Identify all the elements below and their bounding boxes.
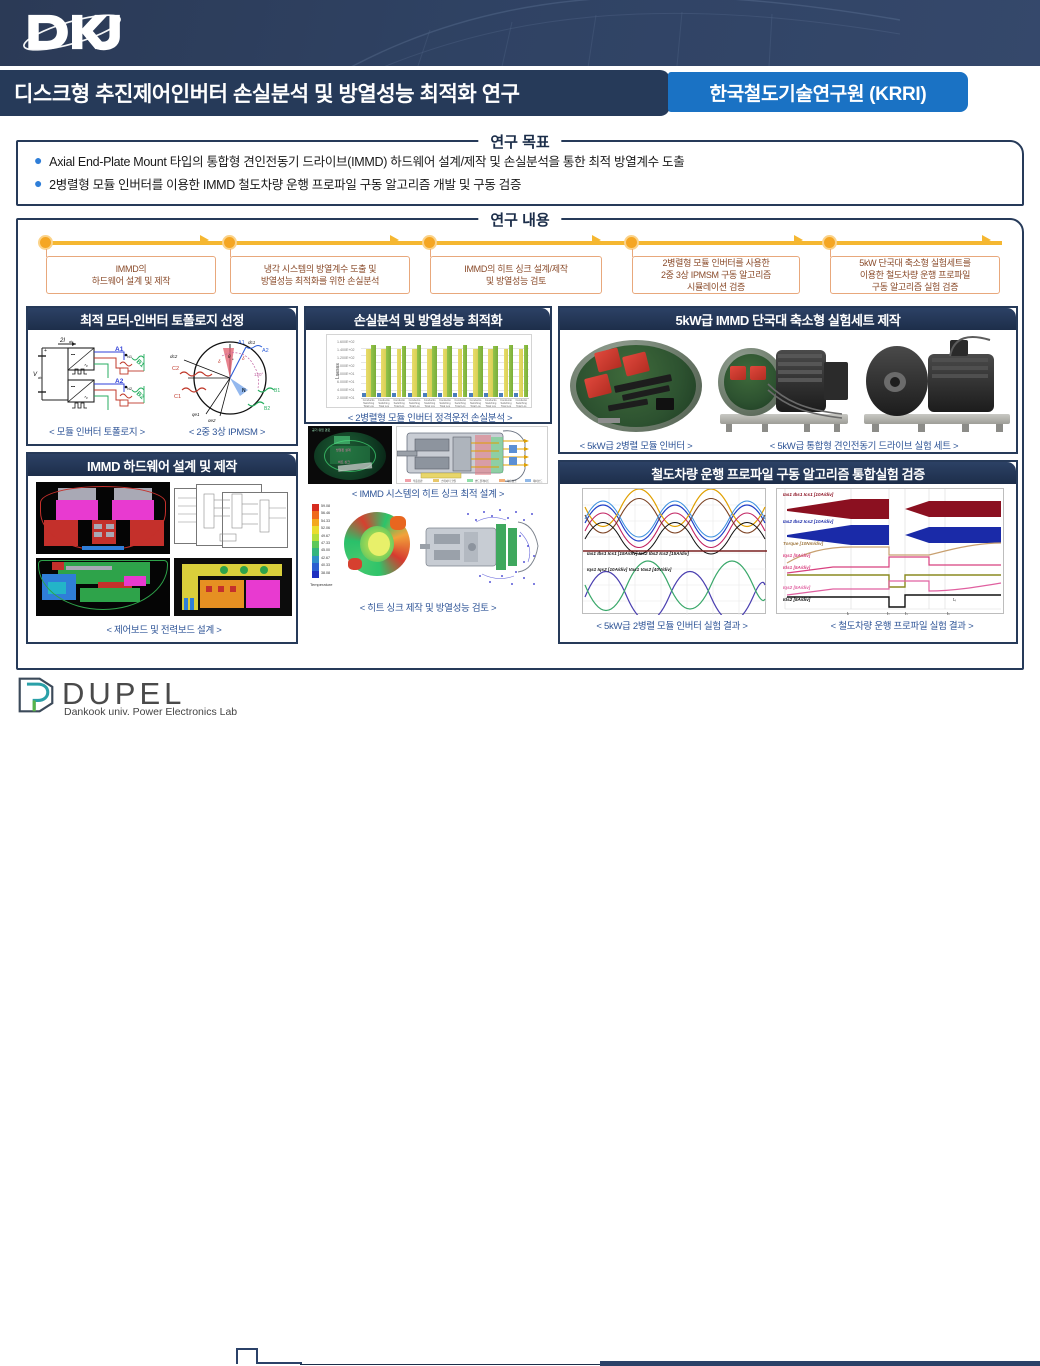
profile-label-iqs1: Iqs1 [5A/div] [783,553,810,558]
svg-text:dc1: dc1 [248,340,256,345]
chart-bar [397,349,402,397]
svg-text:+: + [44,348,47,354]
bullet-icon: ● [34,153,42,167]
chart-bar [514,393,518,397]
chart-bar [453,393,457,397]
caption-inverter-experiment-result: < 5kW급 2병렬 모듈 인버터 실험 결과 > [560,618,784,632]
panel-topology-title: 최적 모터-인버터 토폴로지 선정 [80,310,244,329]
chart-bar [524,345,529,397]
chart-bar [408,393,412,397]
timeline-arrow-icon [390,235,399,245]
timeline-step-label: 5kW 단국대 축소형 실험세트를 이용한 철도차량 운행 프로파일 구동 알고… [859,257,970,293]
figure-module-inverter-topology: V dc + − 2I dc ⎓ ∿ [32,334,160,422]
chart-x-tick: ConductioSwitchingTotal Los [392,398,407,409]
chart-x-tick: ConductioSwitchingTotal Los [407,398,422,409]
profile-label-ids1: Ids1 [5A/div] [783,565,810,570]
chart-y-tick: 1.600E+02 [337,340,355,344]
thermal-colorbar-tick: 49.67 [321,534,330,538]
panel-topology-body: V dc + − 2I dc ⎓ ∿ [28,330,296,444]
chart-bar [402,346,407,397]
footer-rule-thick [600,1361,1040,1366]
research-timeline: IMMD의 하드웨어 설계 및 제작 냉각 시스템의 방열계수 도출 및 방열성… [32,232,1012,298]
svg-text:t₃: t₃ [905,611,908,615]
timeline-step-label: 냉각 시스템의 방열계수 도출 및 방열성능 최적화를 위한 손실분석 [261,263,379,287]
svg-text:A2: A2 [115,378,124,385]
chart-y-tick: 1.400E+02 [337,348,355,352]
svg-text:B2: B2 [264,406,270,412]
figure-control-board-layout [36,558,170,616]
chart-bar [473,349,478,397]
svg-text:qe2: qe2 [208,418,216,422]
svg-text:t₄: t₄ [953,597,956,602]
svg-text:히트싱크: 히트싱크 [507,479,517,483]
chart-bar [519,349,524,397]
page-title: 디스크형 추진제어인버터 손실분석 및 방열성능 최적화 연구 [0,70,670,116]
thermal-colorbar [312,504,319,578]
svg-text:⎓: ⎓ [71,352,75,358]
chart-bar [438,393,442,397]
svg-text:t₅: t₅ [947,611,950,615]
panel-heat-sink: 공기 유입 경로 방열핀 설계 히트 싱크 [304,426,552,644]
panel-hardware-design-title: IMMD 하드웨어 설계 및 제작 [87,456,237,475]
timeline-step-1: IMMD의 하드웨어 설계 및 제작 [46,256,216,294]
svg-text:∿: ∿ [84,363,88,369]
footer-step-decoration [256,1362,302,1364]
chart-x-tick: ConductioSwitchingTotal Los [422,398,437,409]
timeline-node [624,235,639,250]
chart-x-tick-labels: ConductioSwitchingTotal LosConductioSwit… [361,398,529,409]
chart-bar [478,346,483,397]
chart-bar [417,345,422,397]
timeline-step-label: IMMD의 히트 싱크 설계/제작 및 방열성능 검토 [464,263,567,287]
svg-text:⎓: ⎓ [71,384,75,390]
timeline-arrow-icon [200,235,209,245]
figure-board-floorplan [174,558,292,616]
chart-bar [488,349,493,397]
panel-hardware-design-body: < 제어보드 및 전력보드 설계 > [28,476,296,642]
profile-label-torque: Torque [10Nm/div] [783,541,823,546]
photo-traction-motor-dyno [858,332,1016,436]
panel-loss-analysis-header: 손실분석 및 방열성능 최적화 [306,308,550,330]
svg-text:A1: A1 [115,346,124,353]
footer: DUPEL Dankook univ. Power Electronics La… [0,672,1040,720]
timeline-step-2: 냉각 시스템의 방열계수 도출 및 방열성능 최적화를 위한 손실분석 [230,256,410,294]
svg-text:qe1: qe1 [192,412,200,417]
caption-control-power-board-design: < 제어보드 및 전력보드 설계 > [32,622,296,636]
timeline-step-label: 2병렬형 모듈 인버터를 사용한 2중 3상 IPMSM 구동 알고리즘 시뮬레… [661,257,771,293]
dupel-subtitle: Dankook univ. Power Electronics Lab [64,706,237,718]
chart-bar [412,349,417,397]
figure-thermal-cfd-analysis: 59.0856.4654.3352.0649.6747.3345.0042.67… [308,500,548,598]
footer-rule-thin [300,1364,600,1365]
svg-text:t₂: t₂ [887,611,890,615]
svg-text:스테이터 코일: 스테이터 코일 [441,479,457,483]
thermal-colorbar-tick: 54.33 [321,519,330,523]
timeline-step-3: IMMD의 히트 싱크 설계/제작 및 방열성능 검토 [430,256,602,294]
chart-bar [463,345,468,397]
chart-x-tick: ConductioSwitchingTotal Los [361,398,376,409]
chart-bar [432,346,437,397]
svg-text:120°: 120° [254,372,264,377]
goal-text: 2병렬형 모듈 인버터를 이용한 IMMD 철도차량 운행 프로파일 구동 알고… [49,174,521,193]
figure-dual-three-phase-ipmsm: A1 A2 C2 C1 B1 B2 N [162,334,294,422]
profile-label-ias2: Ias2 Ibs2 Ics2 [10A/div] [783,519,833,524]
chart-y-tick: 4.000E+01 [337,388,355,392]
research-goals-section: 연구 목표 ● Axial End-Plate Mount 타입의 통합형 견인… [16,140,1024,206]
scope-label-phase-currents: Ias1 Ibs1 Ics1 [15A/div] Ias2 Ibs2 Ics2 … [587,551,689,556]
svg-text:dc2: dc2 [170,354,178,359]
photo-immd-drive-assembly [712,332,856,436]
timeline-node [38,235,53,250]
chart-x-tick: ConductioSwitchingTotal Los [453,398,468,409]
photo-parallel-module-inverter [564,332,710,436]
svg-text:A1: A1 [238,340,245,346]
svg-text:δ: δ [242,356,245,361]
figure-circuit-schematic-sheets [174,482,292,554]
caption-dual-three-phase-ipmsm: < 2중 3상 IPMSM > [162,424,292,438]
dupel-logo-icon [16,676,56,714]
research-goals-legend: 연구 목표 [478,131,561,152]
research-content-legend: 연구 내용 [478,209,561,230]
partner-badge: 한국철도기술연구원 (KRRI) [668,72,968,112]
chart-bar [447,346,452,397]
chart-bar [469,393,473,397]
chart-bar [493,346,498,397]
panel-rail-profile: 철도차량 운행 프로파일 구동 알고리즘 통합실험 검증 [558,460,1018,644]
chart-bar [371,345,376,397]
research-content-section: 연구 내용 IMMD의 하드웨어 설계 및 제작 냉각 시스템의 방열계수 도출… [16,218,1024,670]
list-item: ● 2병렬형 모듈 인버터를 이용한 IMMD 철도차량 운행 프로파일 구동 … [34,174,1022,193]
timeline-node [422,235,437,250]
timeline-node [222,235,237,250]
thermal-colorbar-tick: 40.33 [321,563,330,567]
svg-text:dc: dc [69,339,73,344]
chart-y-tick: 1.200E+02 [337,356,355,360]
svg-text:B1: B1 [274,388,280,394]
svg-text:엔드플레이트: 엔드플레이트 [475,479,490,483]
thermal-colorbar-tick: 42.67 [321,556,330,560]
panel-hardware-design-header: IMMD 하드웨어 설계 및 제작 [28,454,296,476]
chart-bar [366,349,371,397]
timeline-step-4: 2병렬형 모듈 인버터를 사용한 2중 3상 IPMSM 구동 알고리즘 시뮬레… [632,256,800,294]
panel-test-set: 5kW급 IMMD 단국대 축소형 실험세트 제작 [558,306,1018,454]
chart-bar [386,346,391,397]
dku-logo [20,8,124,56]
banner-decoration [280,0,900,66]
thermal-colorbar-tick: 52.06 [321,526,330,530]
caption-loss-analysis: < 2병렬형 모듈 인버터 정격운전 손실분석 > [310,410,550,424]
caption-parallel-module-inverter: < 5kW급 2병렬 모듈 인버터 > [560,438,712,452]
profile-label-ids2: Ids2 [5A/div] [783,597,810,602]
caption-module-inverter-topology: < 모듈 인버터 토폴로지 > [34,424,160,438]
goal-text: Axial End-Plate Mount 타입의 통합형 견인전동기 드라이브… [49,151,684,170]
panel-loss-analysis-body: Losses 1.600E+02 1.400E+02 1.200E+02 1.0… [306,330,550,422]
svg-text:e: e [232,357,234,361]
timeline-node [822,235,837,250]
figure-inverter-experiment-scope: Ias1 Ibs1 Ics1 [15A/div] Ias2 Ibs2 Ics2 … [582,488,766,614]
chart-plot-area [361,341,529,397]
bullet-icon: ● [34,176,42,190]
panel-topology: 최적 모터-인버터 토폴로지 선정 V dc + − 2I [26,306,298,446]
timeline-arrow-icon [794,235,803,245]
top-banner [0,0,1040,66]
svg-text:A2: A2 [262,348,269,354]
thermal-colorbar-tick: 38.08 [321,571,330,575]
svg-text:t₁: t₁ [847,611,850,615]
thermal-colorbar-tick: 47.33 [321,541,330,545]
svg-text:C1: C1 [174,394,181,400]
thermal-colorbar-tick: 56.46 [321,511,330,515]
panel-hardware-design: IMMD 하드웨어 설계 및 제작 [26,452,298,644]
footer-step-decoration [236,1348,238,1364]
chart-y-tick: 2.000E+01 [337,396,355,400]
svg-text:N: N [242,388,246,394]
svg-text:제어보드: 제어보드 [533,479,543,483]
profile-label-iqs2: Iqs2 [5A/div] [783,585,810,590]
chart-bar [423,393,427,397]
chart-bar [443,349,448,397]
panel-test-set-title: 5kW급 IMMD 단국대 축소형 실험세트 제작 [676,310,901,329]
page-title-text: 디스크형 추진제어인버터 손실분석 및 방열성능 최적화 연구 [0,78,520,108]
chart-bar [377,393,381,397]
title-bar: 디스크형 추진제어인버터 손실분석 및 방열성능 최적화 연구 한국철도기술연구… [0,70,1040,116]
chart-bar [484,393,488,397]
chart-bar [509,345,514,397]
chart-bar [362,393,366,397]
chart-x-tick: ConductioSwitchingTotal Los [514,398,529,409]
figure-heat-sink-cad-render: 공기 유입 경로 방열핀 설계 히트 싱크 [308,426,392,484]
svg-text:∿: ∿ [84,395,88,401]
partner-badge-text: 한국철도기술연구원 (KRRI) [710,79,927,106]
caption-rail-profile-experiment-result: < 철도차량 운행 프로파일 실험 결과 > [788,618,1016,632]
timeline-arrow-icon [982,235,991,245]
scope-label-dq-currents: Iqs1 Iqs2 [10A/div] Vas1 Vas2 [40V/div] [587,567,671,572]
chart-x-tick: ConductioSwitchingTotal Los [376,398,391,409]
thermal-colorbar-tick: 45.00 [321,548,330,552]
panel-test-set-header: 5kW급 IMMD 단국대 축소형 실험세트 제작 [560,308,1016,330]
list-item: ● Axial End-Plate Mount 타입의 통합형 견인전동기 드라… [34,151,1022,170]
svg-text:−: − [44,398,48,404]
svg-text:적층강판: 적층강판 [413,479,423,483]
timeline-step-label: IMMD의 하드웨어 설계 및 제작 [92,263,170,287]
chart-y-tick: 1.000E+02 [337,364,355,368]
chart-x-tick: ConductioSwitchingTotal Los [437,398,452,409]
chart-x-tick: ConductioSwitchingTotal Los [498,398,513,409]
footer-step-decoration [236,1348,258,1350]
chart-bar [392,393,396,397]
thermal-colorbar-tick: 59.08 [321,504,330,508]
panel-loss-analysis: 손실분석 및 방열성능 최적화 Losses 1.600E+02 1.400E+… [304,306,552,424]
panel-topology-header: 최적 모터-인버터 토폴로지 선정 [28,308,296,330]
chart-y-tick: 8.000E+01 [337,372,355,376]
chart-bar [504,349,509,397]
panel-rail-profile-body: Ias1 Ibs1 Ics1 [15A/div] Ias2 Ibs2 Ics2 … [560,484,1016,642]
figure-power-board-layout [36,482,170,554]
timeline-step-5: 5kW 단국대 축소형 실험세트를 이용한 철도차량 운행 프로파일 구동 알고… [830,256,1000,294]
panel-test-set-body: < 5kW급 2병렬 모듈 인버터 > < 5kW급 통합형 견인전동기 드라이… [560,330,1016,452]
caption-heat-sink-optimal-design: < IMMD 시스템의 히트 싱크 최적 설계 > [304,486,552,500]
timeline-arrow-icon [592,235,601,245]
profile-label-ias1: Ias1 Ibs1 Ics1 [10A/div] [783,492,833,497]
thermal-colorbar-label: Temperature [310,582,332,587]
chart-y-tick: 6.000E+01 [337,380,355,384]
chart-bar [499,393,503,397]
timeline-track [42,241,1002,245]
chart-x-tick: ConductioSwitchingTotal Los [483,398,498,409]
caption-heat-sink-thermal-check: < 히트 싱크 제작 및 방열성능 검토 > [304,600,552,614]
svg-text:δ: δ [218,359,221,364]
svg-text:C2: C2 [172,366,179,372]
figure-rail-profile-experiment: t₁t₂ t₃t₅ t₄ Ias1 Ibs1 Ics1 [10A/div] Ia… [776,488,1004,614]
panel-rail-profile-header: 철도차량 운행 프로파일 구동 알고리즘 통합실험 검증 [560,462,1016,484]
svg-text:2I: 2I [59,338,65,344]
caption-immd-drive-test-set: < 5kW급 통합형 견인전동기 드라이브 실험 세트 > [712,438,1016,452]
figure-heat-sink-cross-section: 적층강판 스테이터 코일 엔드플레이트 히트싱크 제어보드 [396,426,548,484]
panel-loss-analysis-title: 손실분석 및 방열성능 최적화 [354,310,502,329]
chart-bar [381,349,386,397]
panel-rail-profile-title: 철도차량 운행 프로파일 구동 알고리즘 통합실험 검증 [651,464,925,483]
chart-loss-analysis: Losses 1.600E+02 1.400E+02 1.200E+02 1.0… [326,334,532,408]
svg-text:dc: dc [38,375,42,380]
chart-x-tick: ConductioSwitchingTotal Los [468,398,483,409]
